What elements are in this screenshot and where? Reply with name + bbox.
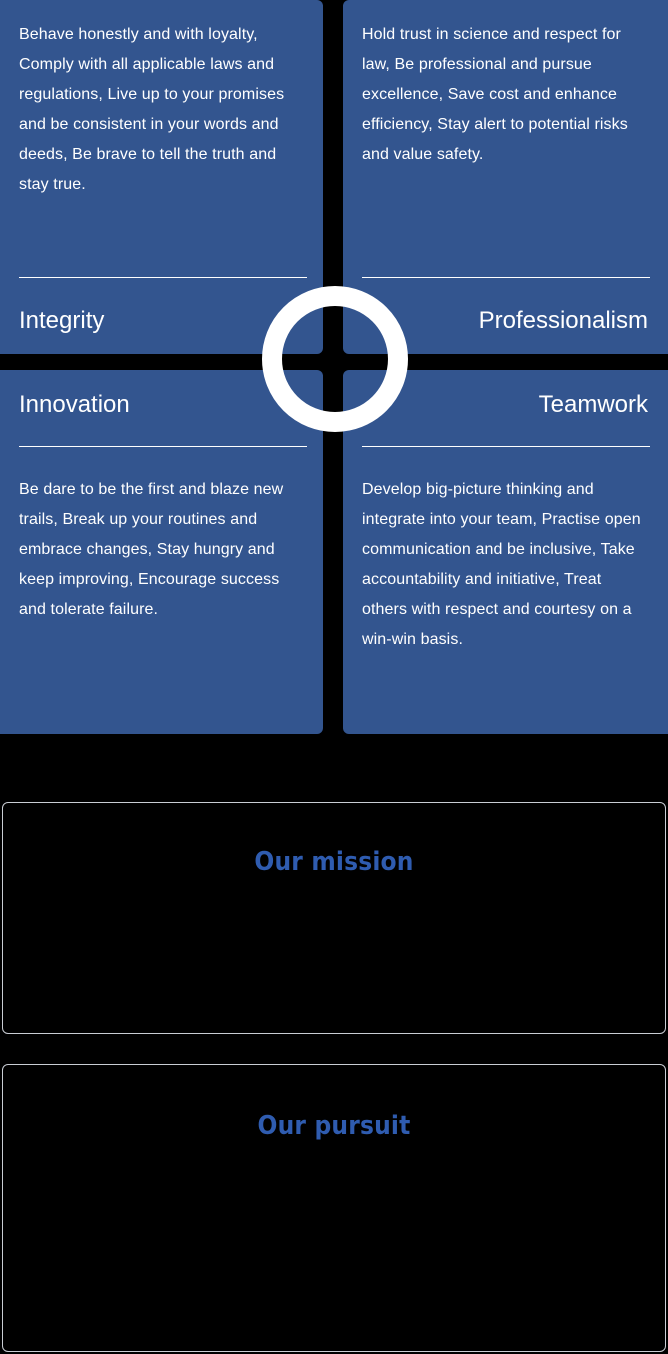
value-card-integrity[interactable]: Behave honestly and with loyalty, Comply… (0, 0, 323, 354)
value-card-divider (362, 446, 650, 447)
value-card-title: Innovation (19, 390, 303, 420)
values-grid: Behave honestly and with loyalty, Comply… (0, 0, 668, 734)
value-card-body: Develop big-picture thinking and integra… (362, 475, 648, 655)
value-card-innovation[interactable]: Innovation Be dare to be the first and b… (0, 370, 323, 734)
value-card-title: Integrity (19, 306, 303, 336)
panel-our-pursuit: Our pursuit (2, 1064, 666, 1352)
spacer (362, 655, 648, 716)
ring-decoration-icon (262, 286, 408, 432)
spacer (362, 170, 648, 277)
value-card-body: Hold trust in science and respect for la… (362, 20, 648, 170)
spacer (19, 200, 303, 277)
value-card-title: Teamwork (362, 390, 648, 420)
value-card-teamwork[interactable]: Teamwork Develop big-picture thinking an… (343, 370, 668, 734)
panel-our-mission: Our mission (2, 802, 666, 1034)
panel-title: Our pursuit (36, 1111, 632, 1141)
value-card-professionalism[interactable]: Hold trust in science and respect for la… (343, 0, 668, 354)
value-card-divider (362, 277, 650, 278)
value-card-body: Be dare to be the first and blaze new tr… (19, 475, 303, 625)
value-card-body: Behave honestly and with loyalty, Comply… (19, 20, 303, 200)
value-card-divider (19, 446, 307, 447)
core-values-page: Behave honestly and with loyalty, Comply… (0, 0, 668, 1354)
value-card-divider (19, 277, 307, 278)
spacer (19, 625, 303, 716)
panel-title: Our mission (36, 847, 632, 877)
value-card-title: Professionalism (362, 306, 648, 336)
